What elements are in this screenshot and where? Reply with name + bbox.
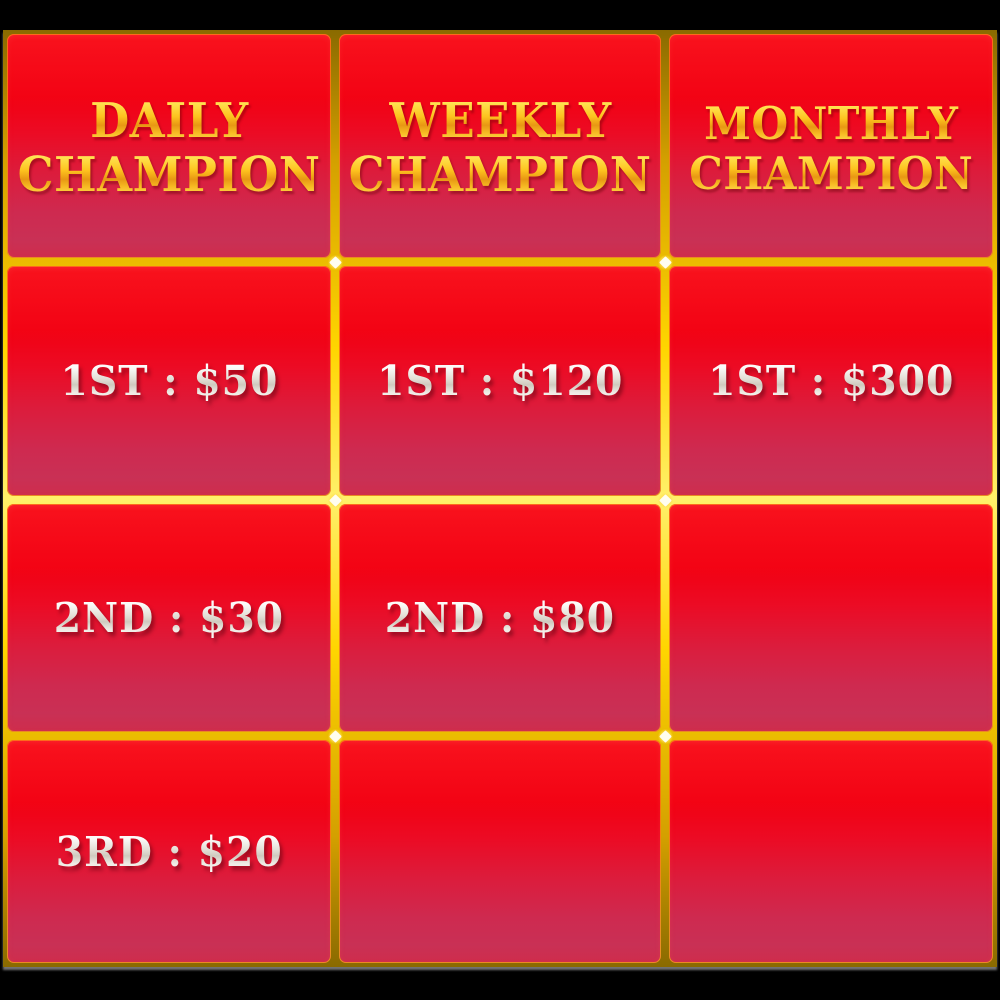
prize-cell-weekly-1st[interactable]: 1ST : $120 (339, 266, 661, 496)
prize-label-daily-2nd: 2ND : $30 (54, 594, 284, 642)
prize-label-daily-1st: 1ST : $50 (60, 357, 278, 405)
prize-cell-weekly-3rd-empty[interactable] (339, 740, 661, 963)
prize-cell-daily-3rd[interactable]: 3RD : $20 (7, 740, 331, 963)
prize-cell-weekly-2nd[interactable]: 2ND : $80 (339, 504, 661, 732)
prize-label-monthly-1st: 1ST : $300 (708, 357, 954, 405)
header-cell-weekly[interactable]: WEEKLY CHAMPION (339, 34, 661, 258)
header-monthly-line1: MONTHLY (704, 99, 958, 149)
prize-board: DAILY CHAMPION WEEKLY CHAMPION MONTHLY C… (3, 30, 997, 967)
header-cell-daily[interactable]: DAILY CHAMPION (7, 34, 331, 258)
header-weekly-line2: CHAMPION (349, 149, 652, 203)
header-weekly-line1: WEEKLY (389, 95, 612, 149)
header-daily-line1: DAILY (90, 95, 249, 149)
prize-cell-daily-2nd[interactable]: 2ND : $30 (7, 504, 331, 732)
prize-cell-monthly-3rd-empty[interactable] (669, 740, 993, 963)
prize-cell-monthly-2nd-empty[interactable] (669, 504, 993, 732)
prize-cell-daily-1st[interactable]: 1ST : $50 (7, 266, 331, 496)
prize-label-weekly-1st: 1ST : $120 (377, 357, 623, 405)
prize-label-weekly-2nd: 2ND : $80 (385, 594, 615, 642)
prize-label-daily-3rd: 3RD : $20 (56, 828, 283, 876)
prize-cell-monthly-1st[interactable]: 1ST : $300 (669, 266, 993, 496)
header-monthly-line2: CHAMPION (689, 149, 973, 199)
header-daily-line2: CHAMPION (18, 149, 321, 203)
header-cell-monthly[interactable]: MONTHLY CHAMPION (669, 34, 993, 258)
